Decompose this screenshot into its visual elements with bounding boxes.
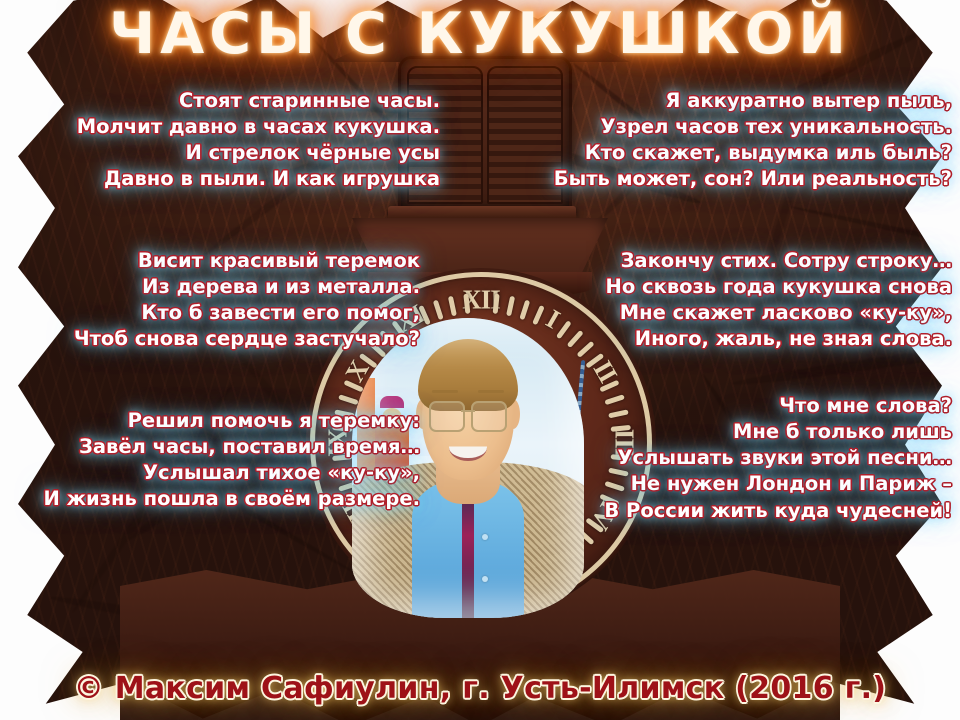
portrait-eyebrow-left <box>432 390 458 393</box>
verse-line: Узрел часов тех уникальность. <box>492 114 952 140</box>
portrait-shirt-button-lower <box>482 576 488 582</box>
verse-line: Мне скажет ласково «ку-ку», <box>492 300 952 326</box>
verse-line: Услышал тихое «ку-ку», <box>0 460 420 486</box>
verse-line: Что мне слова? <box>532 393 952 419</box>
portrait-eyeglass-right <box>471 401 507 432</box>
verse-line: Кто скажет, выдумка иль быль? <box>492 140 952 166</box>
verse-line: В России жить куда чудесней! <box>532 498 952 524</box>
verse-line: Кто б завести его помог, <box>0 300 420 326</box>
portrait-eyebrow-right <box>478 390 504 393</box>
verse-line: Быть может, сон? Или реальность? <box>492 166 952 192</box>
stanza-2-right: Закончу стих. Сотру строку…Но сквозь год… <box>492 248 952 353</box>
portrait-shirt-button-upper <box>482 534 488 540</box>
verse-line: Но сквозь года кукушка снова <box>492 274 952 300</box>
verse-line: Мне б только лишь <box>532 419 952 445</box>
stanza-3-right: Что мне слова?Мне б только лишьУслышать … <box>532 393 952 524</box>
verse-line: Закончу стих. Сотру строку… <box>492 248 952 274</box>
stanza-1-right: Я аккуратно вытер пыль,Узрел часов тех у… <box>492 88 952 193</box>
verse-line: И стрелок чёрные усы <box>0 140 440 166</box>
verse-line: И жизнь пошла в своём размере. <box>0 486 420 512</box>
verse-line: Чтоб снова сердце застучало? <box>0 326 420 352</box>
verse-line: Висит красивый теремок <box>0 248 420 274</box>
verse-line: Не нужен Лондон и Париж – <box>532 471 952 497</box>
verse-line: Иного, жаль, не зная слова. <box>492 326 952 352</box>
poster-canvas: XIIIIIIIIIVVVIVIIVIIIIXXXI ЧАСЫ С КУКУШК <box>0 0 960 720</box>
portrait-smile <box>449 434 486 461</box>
stanza-3-left: Решил помочь я теремку:Завёл часы, поста… <box>0 408 420 513</box>
portrait-shirt-placket <box>462 486 474 618</box>
verse-line: Давно в пыли. И как игрушка <box>0 166 440 192</box>
stanza-2-left: Висит красивый теремокИз дерева и из мет… <box>0 248 420 353</box>
verse-line: Молчит давно в часах кукушка. <box>0 114 440 140</box>
portrait-eyeglass-bridge <box>461 410 475 412</box>
verse-line: Решил помочь я теремку: <box>0 408 420 434</box>
verse-line: Завёл часы, поставил время… <box>0 434 420 460</box>
verse-line: Из дерева и из металла. <box>0 274 420 300</box>
author-credit: © Максим Сафиулин, г. Усть-Илимск (2016 … <box>0 671 960 706</box>
stanza-1-left: Стоят старинные часы.Молчит давно в часа… <box>0 88 440 193</box>
verse-line: Услышать звуки этой песни… <box>532 445 952 471</box>
portrait-eyeglass-left <box>429 401 465 432</box>
verse-line: Я аккуратно вытер пыль, <box>492 88 952 114</box>
scene-figure-hat <box>380 396 404 408</box>
verse-line: Стоят старинные часы. <box>0 88 440 114</box>
page-title: ЧАСЫ С КУКУШКОЙ <box>0 6 960 63</box>
